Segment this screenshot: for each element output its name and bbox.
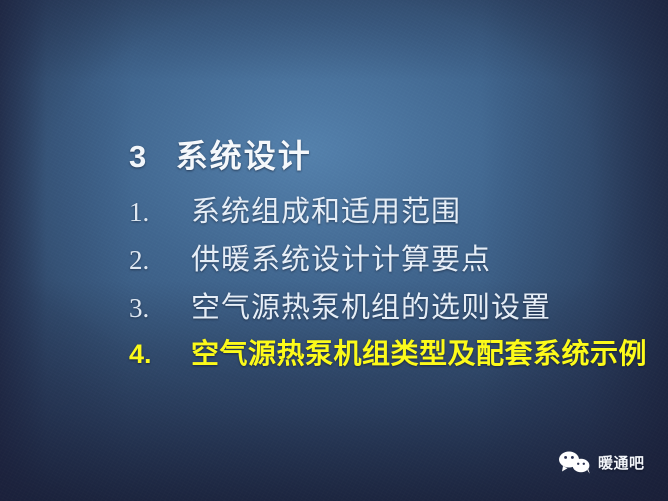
watermark: 暖通吧 <box>558 450 645 474</box>
list-item-label: 空气源热泵机组的选则设置 <box>191 284 551 326</box>
list-item[interactable]: 3. 空气源热泵机组的选则设置 <box>129 284 649 332</box>
agenda-list: 1. 系统组成和适用范围 2. 供暖系统设计计算要点 3. 空气源热泵机组的选则… <box>129 188 649 380</box>
watermark-label: 暖通吧 <box>598 452 645 473</box>
list-item-label: 系统组成和适用范围 <box>191 188 461 230</box>
list-item-active[interactable]: 4. 空气源热泵机组类型及配套系统示例 <box>129 332 649 380</box>
slide-title-number: 3 <box>129 139 147 175</box>
wechat-icon <box>558 450 592 474</box>
slide-title-text: 系统设计 <box>176 131 312 177</box>
list-item-number: 2. <box>129 245 191 276</box>
slide-content: 3 系统设计 1. 系统组成和适用范围 2. 供暖系统设计计算要点 3. 空气源… <box>0 0 668 501</box>
slide-title: 3 系统设计 <box>129 131 312 177</box>
list-item-label: 空气源热泵机组类型及配套系统示例 <box>191 332 647 372</box>
list-item-number: 3. <box>129 293 191 324</box>
list-item-number: 4. <box>129 339 191 370</box>
list-item-label: 供暖系统设计计算要点 <box>191 236 491 278</box>
list-item[interactable]: 2. 供暖系统设计计算要点 <box>129 236 649 284</box>
list-item-number: 1. <box>129 197 191 228</box>
list-item[interactable]: 1. 系统组成和适用范围 <box>129 188 649 236</box>
presentation-slide: 3 系统设计 1. 系统组成和适用范围 2. 供暖系统设计计算要点 3. 空气源… <box>0 0 668 501</box>
